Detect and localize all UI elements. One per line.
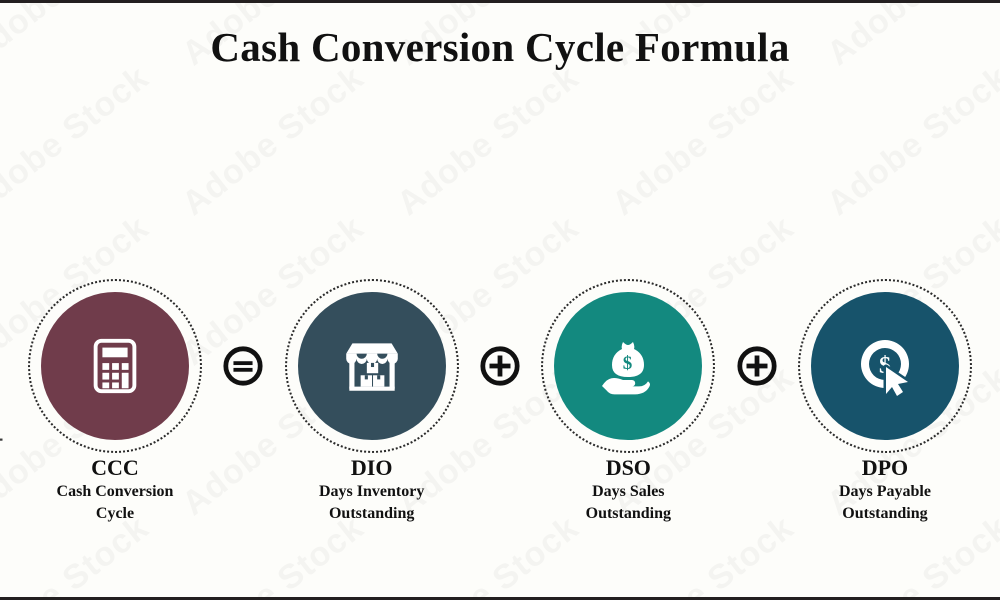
caption-full-dso: Days Sales Outstanding (541, 481, 715, 525)
icon-disc-dio (298, 292, 446, 440)
watermark-word: Adobe Stock (820, 58, 1000, 223)
dotted-ring-dio (285, 279, 459, 453)
caption-dio: DIO Days Inventory Outstanding (285, 455, 459, 525)
dollar-coin-cursor-icon: $ (853, 334, 917, 398)
dotted-ring-dpo: $ (798, 279, 972, 453)
icon-disc-dpo: $ (811, 292, 959, 440)
calculator-icon (84, 335, 146, 397)
watermark-word: Adobe Stock (605, 58, 801, 223)
plus-circle-icon (479, 345, 521, 387)
storefront-icon (339, 333, 405, 399)
watermark-word: Adobe Stock (175, 58, 371, 223)
caption-dso: DSO Days Sales Outstanding (541, 455, 715, 525)
dotted-ring-dso: $ (541, 279, 715, 453)
dotted-ring-ccc (28, 279, 202, 453)
stock-credit-text: Adobe Stock | #721280690 (0, 336, 4, 553)
operator-plus-1 (478, 344, 522, 388)
formula-node-dio[interactable] (285, 279, 459, 453)
plus-circle-icon (736, 345, 778, 387)
icon-disc-dso: $ (554, 292, 702, 440)
svg-text:$: $ (623, 353, 633, 374)
page-title: Cash Conversion Cycle Formula (0, 23, 1000, 71)
captions-row: CCC Cash Conversion Cycle DIO Days Inven… (28, 455, 972, 525)
money-bag-hand-icon: $ (596, 334, 660, 398)
formula-node-dso[interactable]: $ (541, 279, 715, 453)
equals-circle-icon (222, 345, 264, 387)
caption-abbr-ccc: CCC (28, 455, 202, 480)
formula-node-ccc[interactable] (28, 279, 202, 453)
caption-dpo: DPO Days Payable Outstanding (798, 455, 972, 525)
caption-abbr-dio: DIO (285, 455, 459, 480)
caption-abbr-dpo: DPO (798, 455, 972, 480)
operator-equals (221, 344, 265, 388)
stock-credit-rail: Adobe Stock | #721280690 (0, 3, 34, 600)
operator-plus-2 (735, 344, 779, 388)
caption-ccc: CCC Cash Conversion Cycle (28, 455, 202, 525)
formula-row: $ $ (28, 279, 972, 459)
caption-full-dpo: Days Payable Outstanding (798, 481, 972, 525)
caption-full-ccc: Cash Conversion Cycle (28, 481, 202, 525)
formula-node-dpo[interactable]: $ (798, 279, 972, 453)
watermark-word: Adobe Stock (390, 58, 586, 223)
icon-disc-ccc (41, 292, 189, 440)
caption-abbr-dso: DSO (541, 455, 715, 480)
infographic-canvas: Adobe StockAdobe StockAdobe StockAdobe S… (0, 0, 1000, 600)
caption-full-dio: Days Inventory Outstanding (285, 481, 459, 525)
